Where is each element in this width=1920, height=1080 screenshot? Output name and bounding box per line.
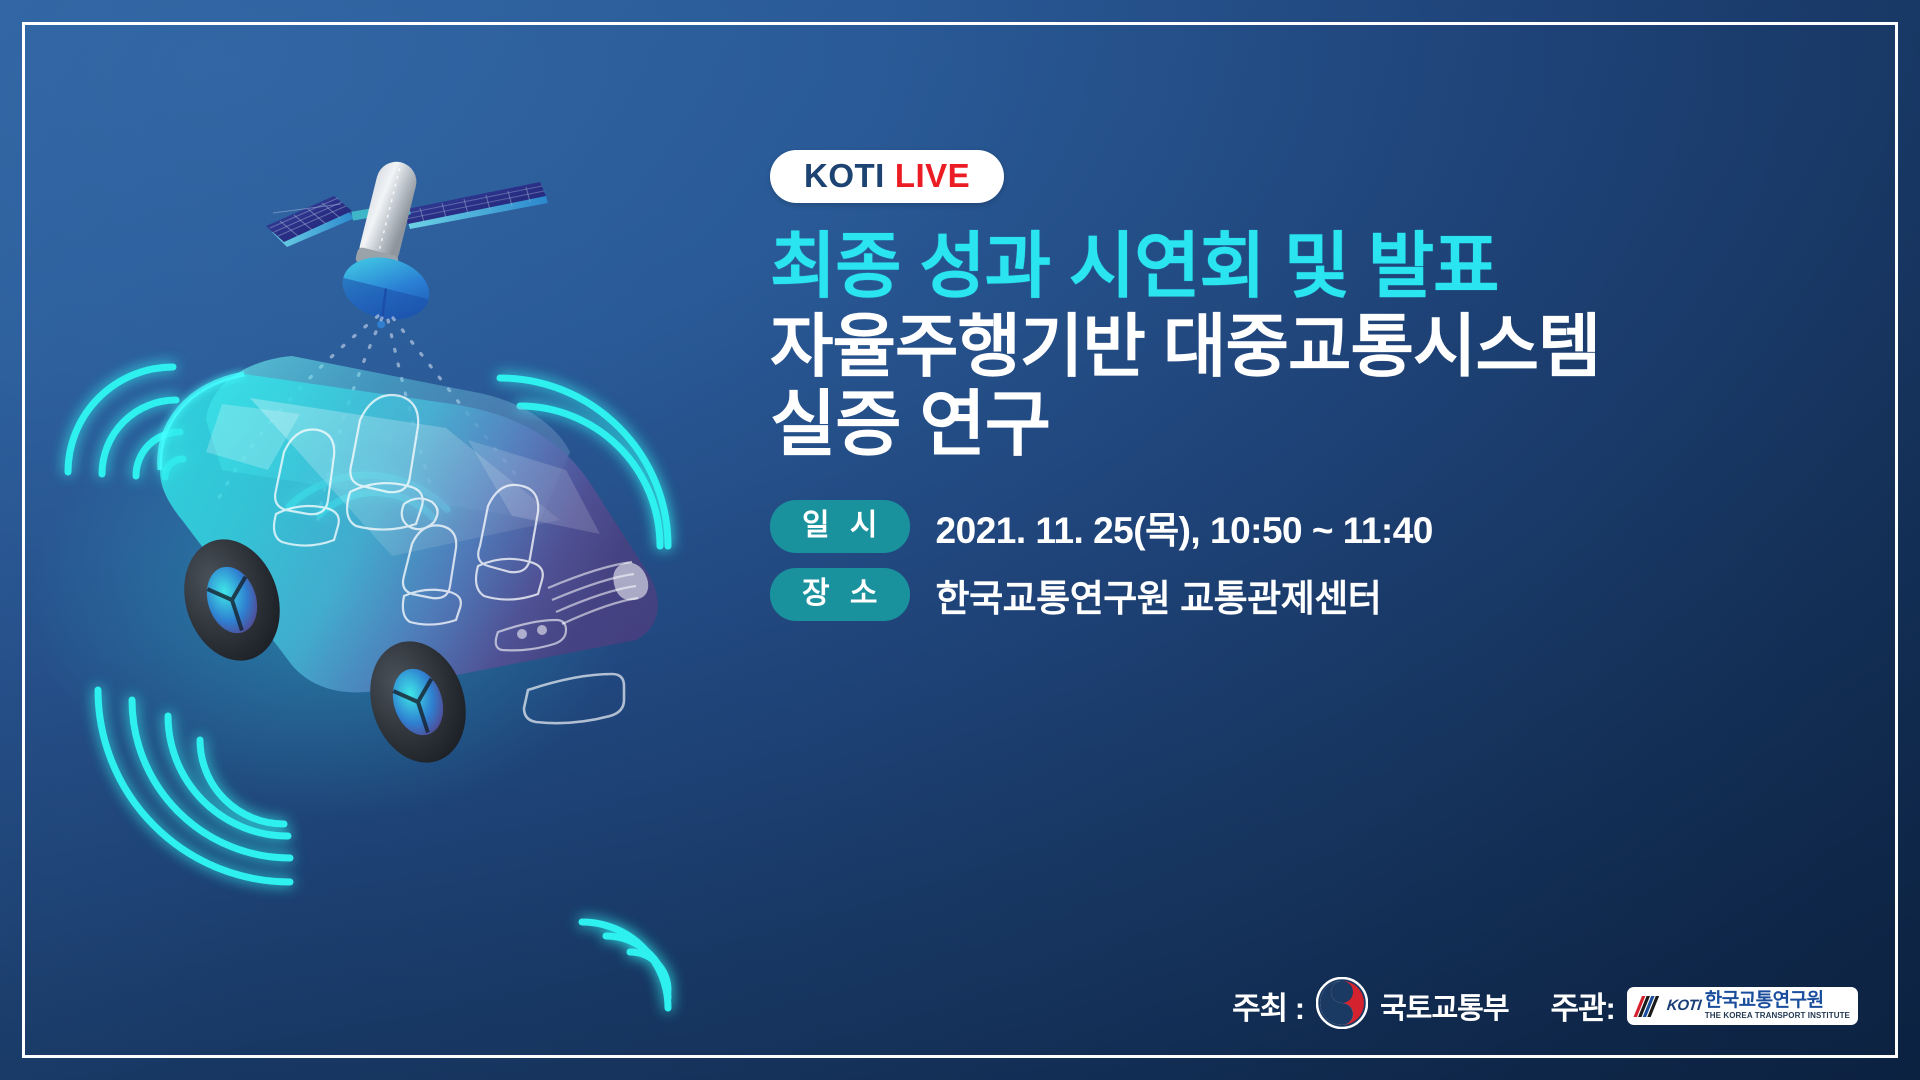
organizer-label: 주관: (1551, 983, 1615, 1028)
footer-organizations: 주최 : 국토교통부 주관: (1232, 977, 1858, 1034)
content-column: KOTI LIVE 최종 성과 시연회 및 발표 자율주행기반 대중교통시스템 … (770, 150, 1890, 636)
venue-label-badge: 장 소 (770, 568, 910, 621)
host-org: 주최 : 국토교통부 (1232, 977, 1508, 1034)
koti-wordmark: KOTI (1666, 998, 1701, 1013)
title-line-2: 자율주행기반 대중교통시스템 (770, 308, 1890, 385)
illustration-area (0, 0, 760, 1080)
organizer-org: 주관: KOTI 한국교통연구원 THE KOREA TRA (1551, 983, 1859, 1028)
info-row-datetime: 일 시 2021. 11. 25(목), 10:50 ~ 11:40 (770, 500, 1890, 554)
koti-live-badge: KOTI LIVE (770, 150, 1004, 203)
title-line-3: 실증 연구 (770, 385, 1890, 466)
datetime-label-badge: 일 시 (770, 500, 910, 553)
koti-name-en: THE KOREA TRANSPORT INSTITUTE (1705, 1012, 1850, 1020)
koti-name-kr: 한국교통연구원 (1705, 991, 1850, 1010)
badge-live-label: LIVE (895, 159, 970, 192)
datetime-value: 2021. 11. 25(목), 10:50 ~ 11:40 (936, 500, 1433, 554)
page-title: 최종 성과 시연회 및 발표 자율주행기반 대중교통시스템 실증 연구 (770, 227, 1890, 466)
host-name: 국토교통부 (1380, 985, 1508, 1027)
title-line-1: 최종 성과 시연회 및 발표 (770, 227, 1890, 308)
event-info: 일 시 2021. 11. 25(목), 10:50 ~ 11:40 장 소 한… (770, 500, 1890, 622)
poster-canvas: KOTI LIVE 최종 성과 시연회 및 발표 자율주행기반 대중교통시스템 … (0, 0, 1920, 1080)
venue-value: 한국교통연구원 교통관제센터 (936, 568, 1382, 622)
badge-koti-label: KOTI (804, 159, 885, 192)
host-label: 주최 : (1232, 983, 1304, 1028)
info-row-venue: 장 소 한국교통연구원 교통관제센터 (770, 568, 1890, 622)
koti-name-block: 한국교통연구원 THE KOREA TRANSPORT INSTITUTE (1705, 991, 1850, 1020)
taegeuk-emblem-icon (1316, 977, 1368, 1034)
satellite-icon (266, 157, 548, 338)
koti-stripes-icon (1633, 991, 1663, 1021)
koti-institute-logo: KOTI 한국교통연구원 THE KOREA TRANSPORT INSTITU… (1627, 987, 1858, 1025)
